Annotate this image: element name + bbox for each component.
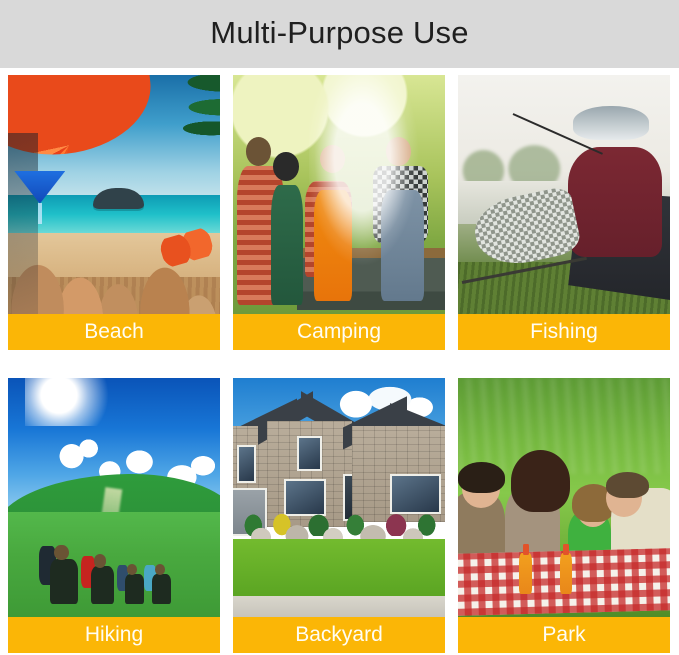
use-case-tile-backyard[interactable]: Backyard xyxy=(233,378,445,653)
hiker-body-3 xyxy=(125,574,144,604)
camping-photo xyxy=(233,75,445,315)
fishing-photo xyxy=(458,75,670,315)
sun-flare xyxy=(25,378,110,426)
cocktail-stem xyxy=(38,203,42,224)
use-case-label-beach: Beach xyxy=(8,314,220,350)
window-left-upper xyxy=(237,445,256,483)
boy-hair xyxy=(458,462,505,493)
angler-torso xyxy=(568,147,661,257)
camping-scene xyxy=(233,75,445,315)
cocktail-bowl xyxy=(14,171,65,204)
mother-hair xyxy=(511,450,570,512)
hiker-head-3 xyxy=(127,564,137,575)
use-case-label-fishing: Fishing xyxy=(458,314,670,350)
hiker-body-1 xyxy=(50,559,78,604)
hiking-photo xyxy=(8,378,220,618)
window-right xyxy=(390,474,441,514)
hiker-body-2 xyxy=(91,566,114,603)
fishing-scene xyxy=(458,75,670,315)
use-case-label-park: Park xyxy=(458,617,670,653)
use-case-tile-park[interactable]: Park xyxy=(458,378,670,653)
father-hair xyxy=(606,472,648,498)
hiker-head-1 xyxy=(54,545,68,561)
front-lawn xyxy=(233,539,445,597)
beach-photo xyxy=(8,75,220,315)
park-background-blur xyxy=(458,378,670,474)
backyard-scene xyxy=(233,378,445,618)
hiker-3 xyxy=(125,556,144,604)
hiker-head-4 xyxy=(155,564,165,575)
juice-bottle-2 xyxy=(560,553,573,594)
use-case-tile-beach[interactable]: Beach xyxy=(8,75,220,350)
use-case-grid: Beach Camping xyxy=(8,75,671,655)
person-green-shirt xyxy=(271,185,303,305)
bbq-smoke xyxy=(309,75,419,281)
bucket-hat xyxy=(573,106,649,140)
park-scene xyxy=(458,378,670,618)
hiking-scene xyxy=(8,378,220,618)
page-title: Multi-Purpose Use xyxy=(0,0,679,68)
use-case-tile-fishing[interactable]: Fishing xyxy=(458,75,670,350)
juice-bottle-1 xyxy=(519,553,532,594)
person-head-1 xyxy=(246,137,271,166)
use-case-label-hiking: Hiking xyxy=(8,617,220,653)
hiker-1 xyxy=(50,532,78,604)
cocktail-glass xyxy=(14,171,65,224)
use-case-label-backyard: Backyard xyxy=(233,617,445,653)
hiker-head-2 xyxy=(94,554,106,567)
beach-scene xyxy=(8,75,220,315)
park-photo xyxy=(458,378,670,618)
sidewalk xyxy=(233,596,445,618)
use-case-label-camping: Camping xyxy=(233,314,445,350)
hiker-2 xyxy=(91,544,114,604)
use-case-tile-hiking[interactable]: Hiking xyxy=(8,378,220,653)
window-main-upper xyxy=(297,436,322,471)
person-head-2 xyxy=(273,152,298,181)
use-case-tile-camping[interactable]: Camping xyxy=(233,75,445,350)
hiker-body-4 xyxy=(152,574,171,604)
backyard-photo xyxy=(233,378,445,618)
hiker-4 xyxy=(152,556,171,604)
